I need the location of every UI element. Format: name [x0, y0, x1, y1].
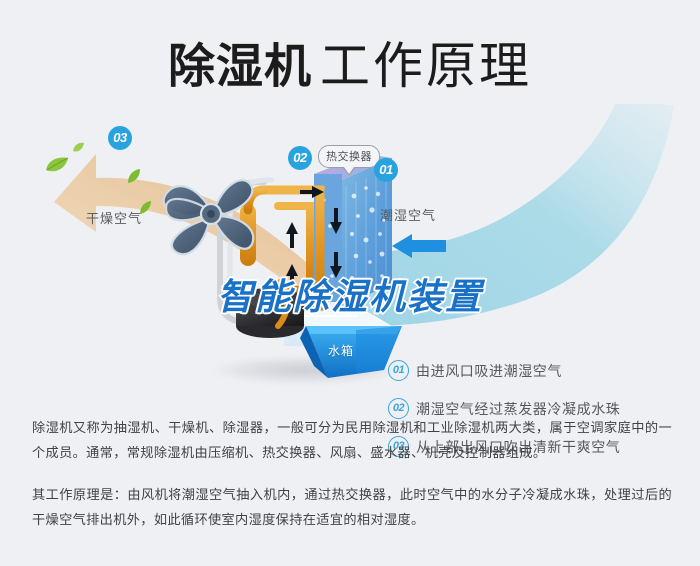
badge-01-humid-air: 01	[374, 158, 398, 182]
leaf-icon	[72, 142, 85, 154]
dehumidifier-diagram: 03 干燥空气 02 热交换器 01 潮湿空气 水箱 01 由进风口吸进潮湿空气…	[0, 108, 700, 396]
leaf-icon	[126, 168, 142, 184]
infographic-page: 除湿机工作原理	[0, 0, 700, 566]
step-text: 由进风口吸进潮湿空气	[416, 361, 562, 381]
page-title-part2: 工作原理	[320, 38, 532, 94]
body-copy: 除湿机又称为抽湿机、干燥机、除湿器，一般可分为民用除湿机和工业除湿机两大类，属于…	[32, 415, 672, 549]
label-water-tank: 水箱	[328, 342, 354, 359]
paragraph-2: 其工作原理是：由风机将潮湿空气抽入机内，通过热交换器，此时空气中的水分子冷凝成水…	[32, 482, 672, 532]
label-humid-air: 潮湿空气	[380, 205, 436, 224]
page-title: 除湿机工作原理	[0, 26, 700, 98]
label-heat-exchanger: 热交换器	[318, 145, 380, 168]
leaf-icon	[44, 156, 70, 174]
step-item: 01 由进风口吸进潮湿空气	[388, 360, 688, 381]
step-number: 01	[388, 360, 409, 381]
page-title-part1: 除湿机	[168, 40, 312, 93]
label-dry-air: 干燥空气	[86, 208, 142, 227]
paragraph-1: 除湿机又称为抽湿机、干燥机、除湿器，一般可分为民用除湿机和工业除湿机两大类，属于…	[32, 415, 672, 465]
badge-02-heat-exchanger: 02	[288, 146, 312, 170]
badge-03-dry-air: 03	[108, 126, 132, 150]
fan-icon	[150, 160, 270, 270]
